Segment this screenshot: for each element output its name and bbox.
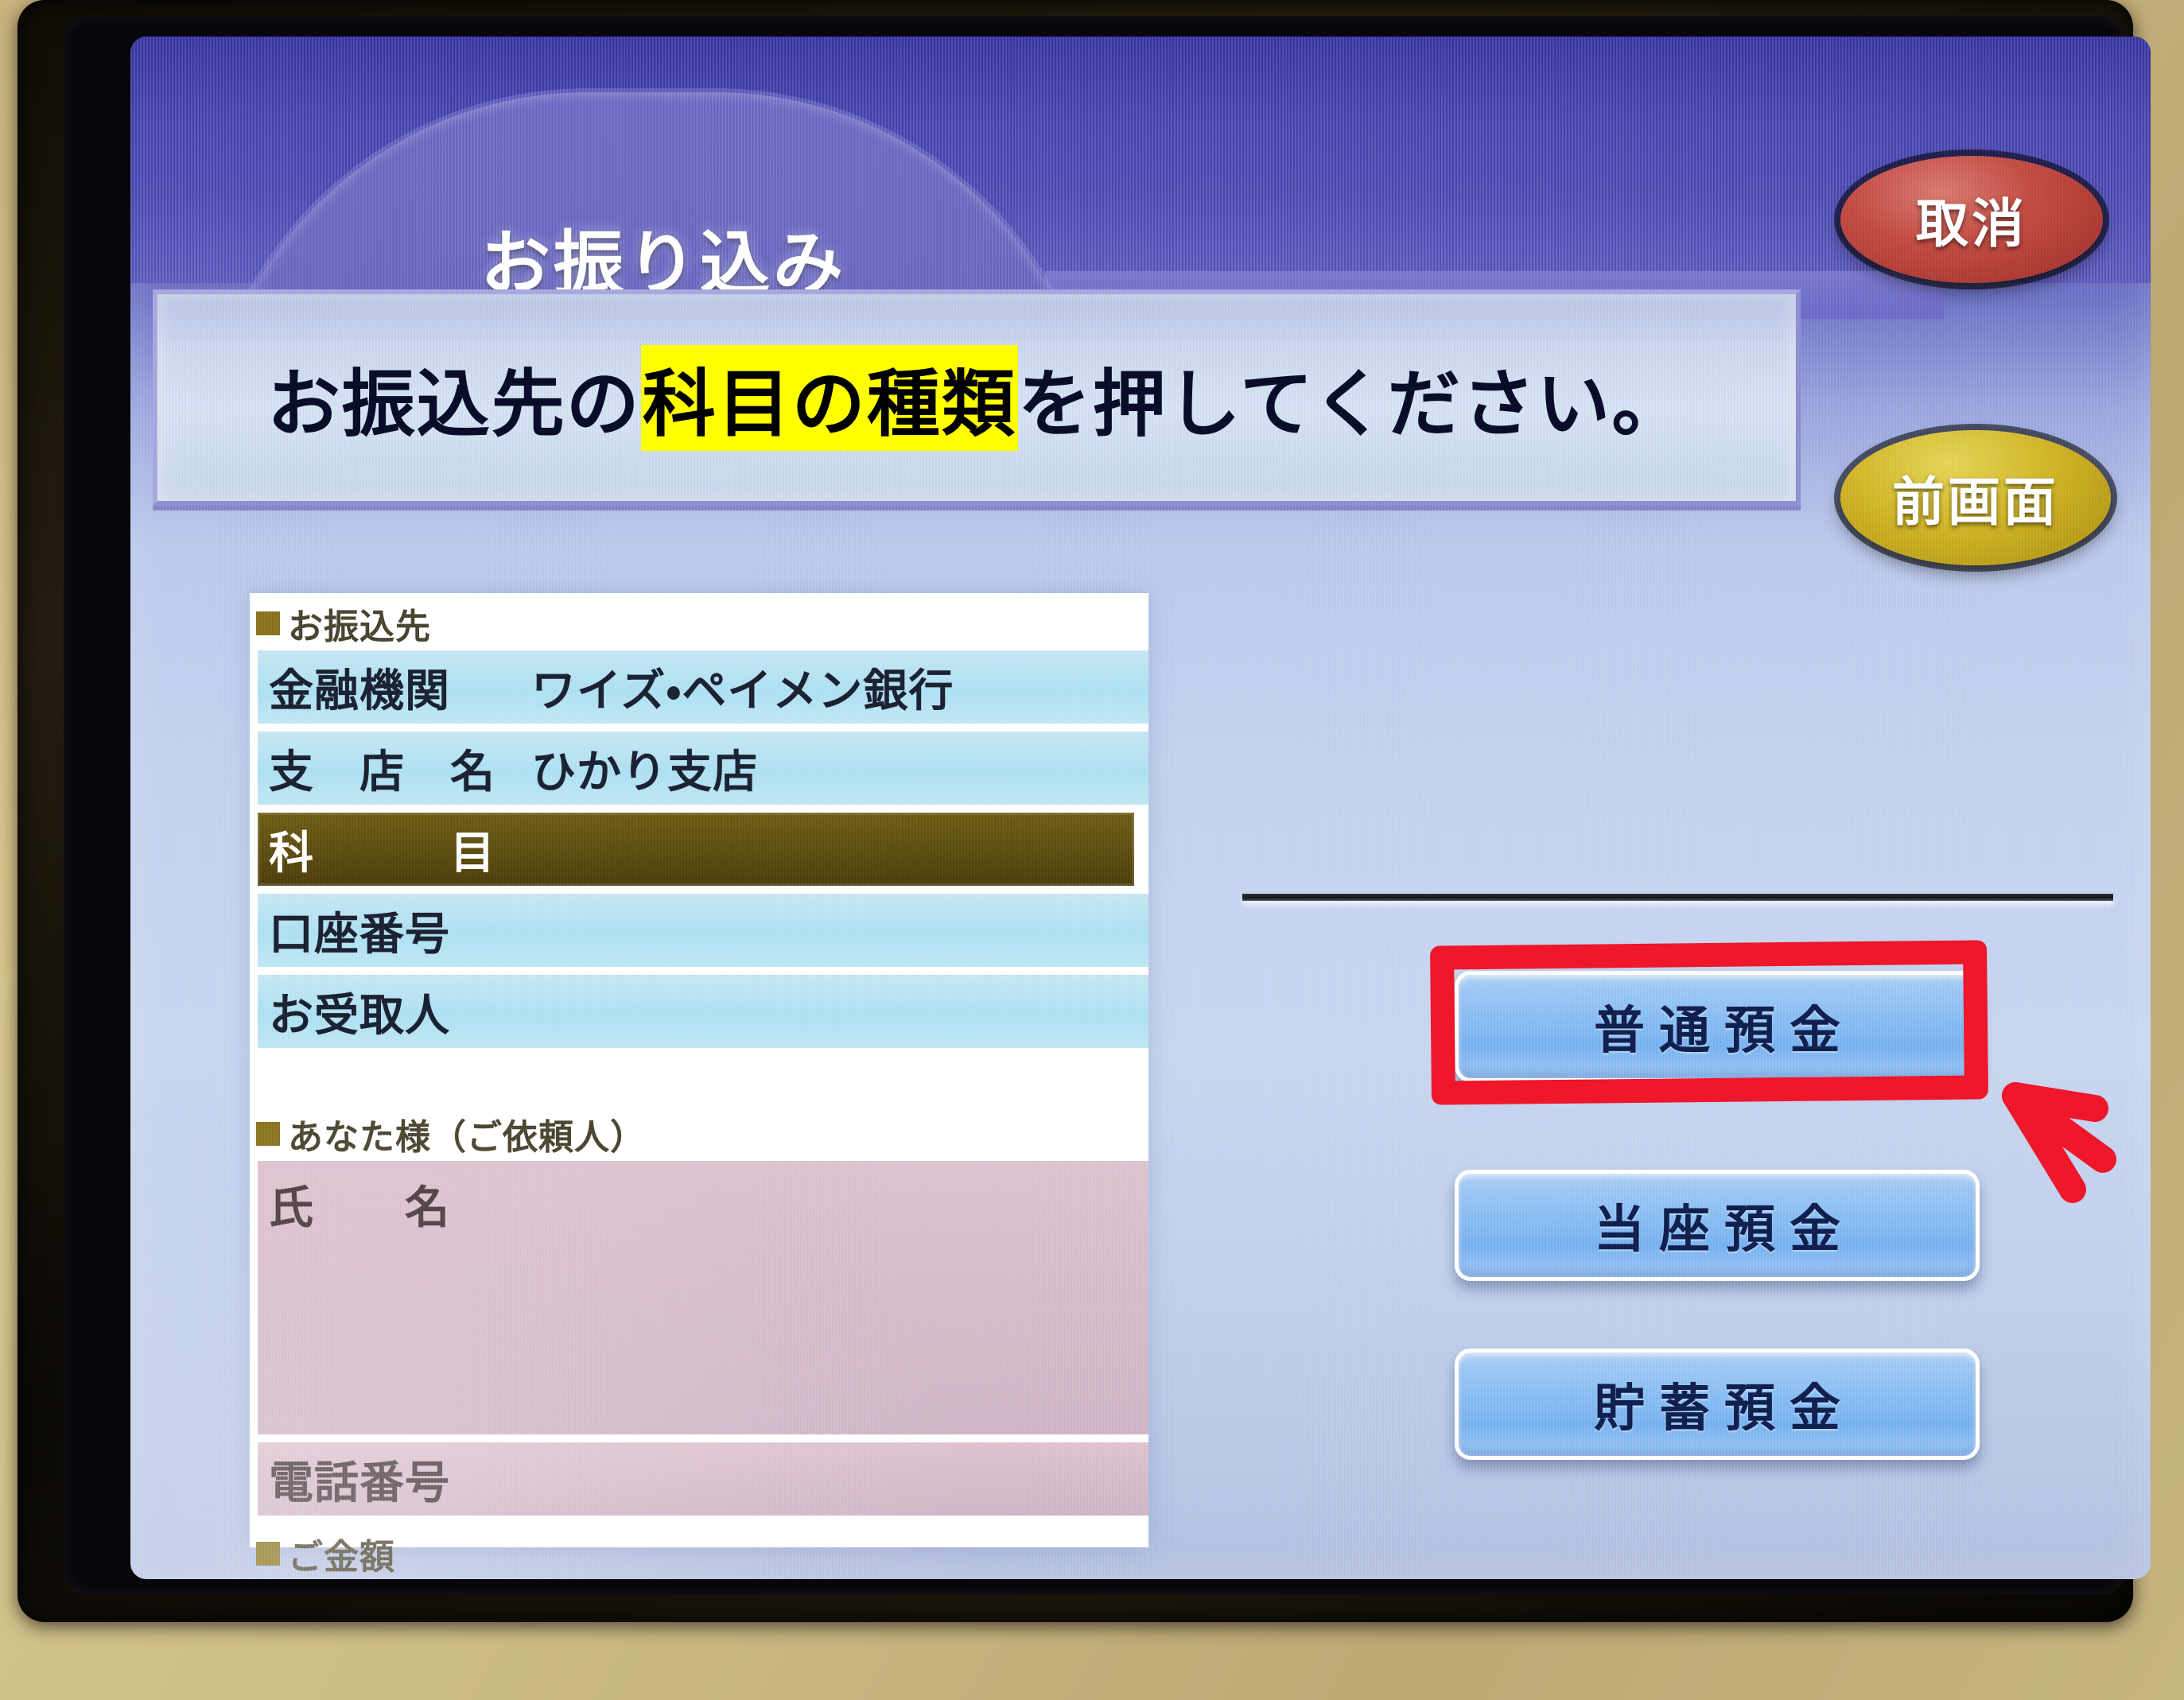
table-row: 電話番号 — [258, 1442, 1148, 1516]
screen-bezel: お振り込み 取消 前画面 お振込先の科目の種類を押してください。 — [17, 0, 2133, 1622]
transfer-summary-card: お振込先 金融機関 ワイズ・ペイメン銀行 支 店 名 ひかり支店 科 目 — [250, 593, 1148, 1547]
section-divider — [1242, 894, 2113, 901]
group-heading-recipient: お振込先 — [250, 593, 1148, 650]
bullet-square-icon — [256, 611, 280, 635]
table-row: 金融機関 ワイズ・ペイメン銀行 — [258, 650, 1148, 724]
table-row: お受取人 — [258, 975, 1148, 1048]
atm-screen: お振り込み 取消 前画面 お振込先の科目の種類を押してください。 — [130, 37, 2151, 1579]
row-label: 氏 名 — [269, 1172, 531, 1236]
screen-bezel-inner: お振り込み 取消 前画面 お振込先の科目の種類を押してください。 — [64, 16, 2124, 1594]
instruction-text: お振込先の科目の種類を押してください。 — [157, 294, 1796, 501]
row-label: 金融機関 — [269, 655, 531, 720]
cancel-button[interactable]: 取消 — [1840, 156, 2103, 283]
account-type-button-futsu-label: 普通預金 — [1580, 990, 1855, 1063]
account-type-button-toza[interactable]: 当座預金 — [1455, 1170, 1980, 1281]
account-type-button-chochiku[interactable]: 貯蓄預金 — [1455, 1349, 1980, 1460]
row-value: ひかり支店 — [531, 736, 758, 801]
bullet-square-icon — [256, 1542, 280, 1566]
annotation-arrow-icon — [1984, 1062, 2151, 1269]
atm-chassis: お振り込み 取消 前画面 お振込先の科目の種類を押してください。 — [0, 0, 2184, 1700]
account-type-button-futsu[interactable]: 普通預金 — [1455, 971, 1980, 1082]
cancel-button-label: 取消 — [1916, 181, 2027, 258]
row-label: 支 店 名 — [269, 736, 531, 801]
previous-screen-button[interactable]: 前画面 — [1840, 430, 2111, 565]
bullet-square-icon — [256, 1122, 280, 1146]
previous-screen-button-label: 前画面 — [1892, 460, 2059, 536]
section-spacer — [250, 1056, 1148, 1104]
row-value: ワイズ・ペイメン銀行 — [531, 655, 954, 720]
table-row-active-field: 科 目 — [258, 813, 1134, 886]
group-heading-recipient-label: お振込先 — [288, 598, 431, 649]
account-type-button-toza-label: 当座預金 — [1580, 1189, 1855, 1262]
group-heading-amount-label: ご金額 — [288, 1528, 395, 1579]
table-row: 氏 名 — [258, 1161, 1148, 1434]
instruction-prefix: お振込先の — [267, 345, 641, 451]
row-label: 電話番号 — [269, 1447, 531, 1512]
row-label: 口座番号 — [269, 899, 531, 963]
row-label: お受取人 — [269, 980, 531, 1044]
group-heading-payer: あなた様（ご依頼人） — [250, 1104, 1148, 1161]
table-row: 口座番号 — [258, 894, 1148, 967]
instruction-highlight: 科目の種類 — [641, 345, 1018, 451]
group-heading-payer-label: あなた様（ご依頼人） — [288, 1108, 646, 1159]
instruction-panel: お振込先の科目の種類を押してください。 — [153, 289, 1801, 506]
instruction-suffix: を押してください。 — [1018, 345, 1686, 451]
group-heading-amount: ご金額 — [250, 1523, 1148, 1579]
account-type-button-chochiku-label: 貯蓄預金 — [1580, 1368, 1855, 1441]
table-row: 支 店 名 ひかり支店 — [258, 732, 1148, 805]
row-label: 科 目 — [269, 817, 531, 882]
